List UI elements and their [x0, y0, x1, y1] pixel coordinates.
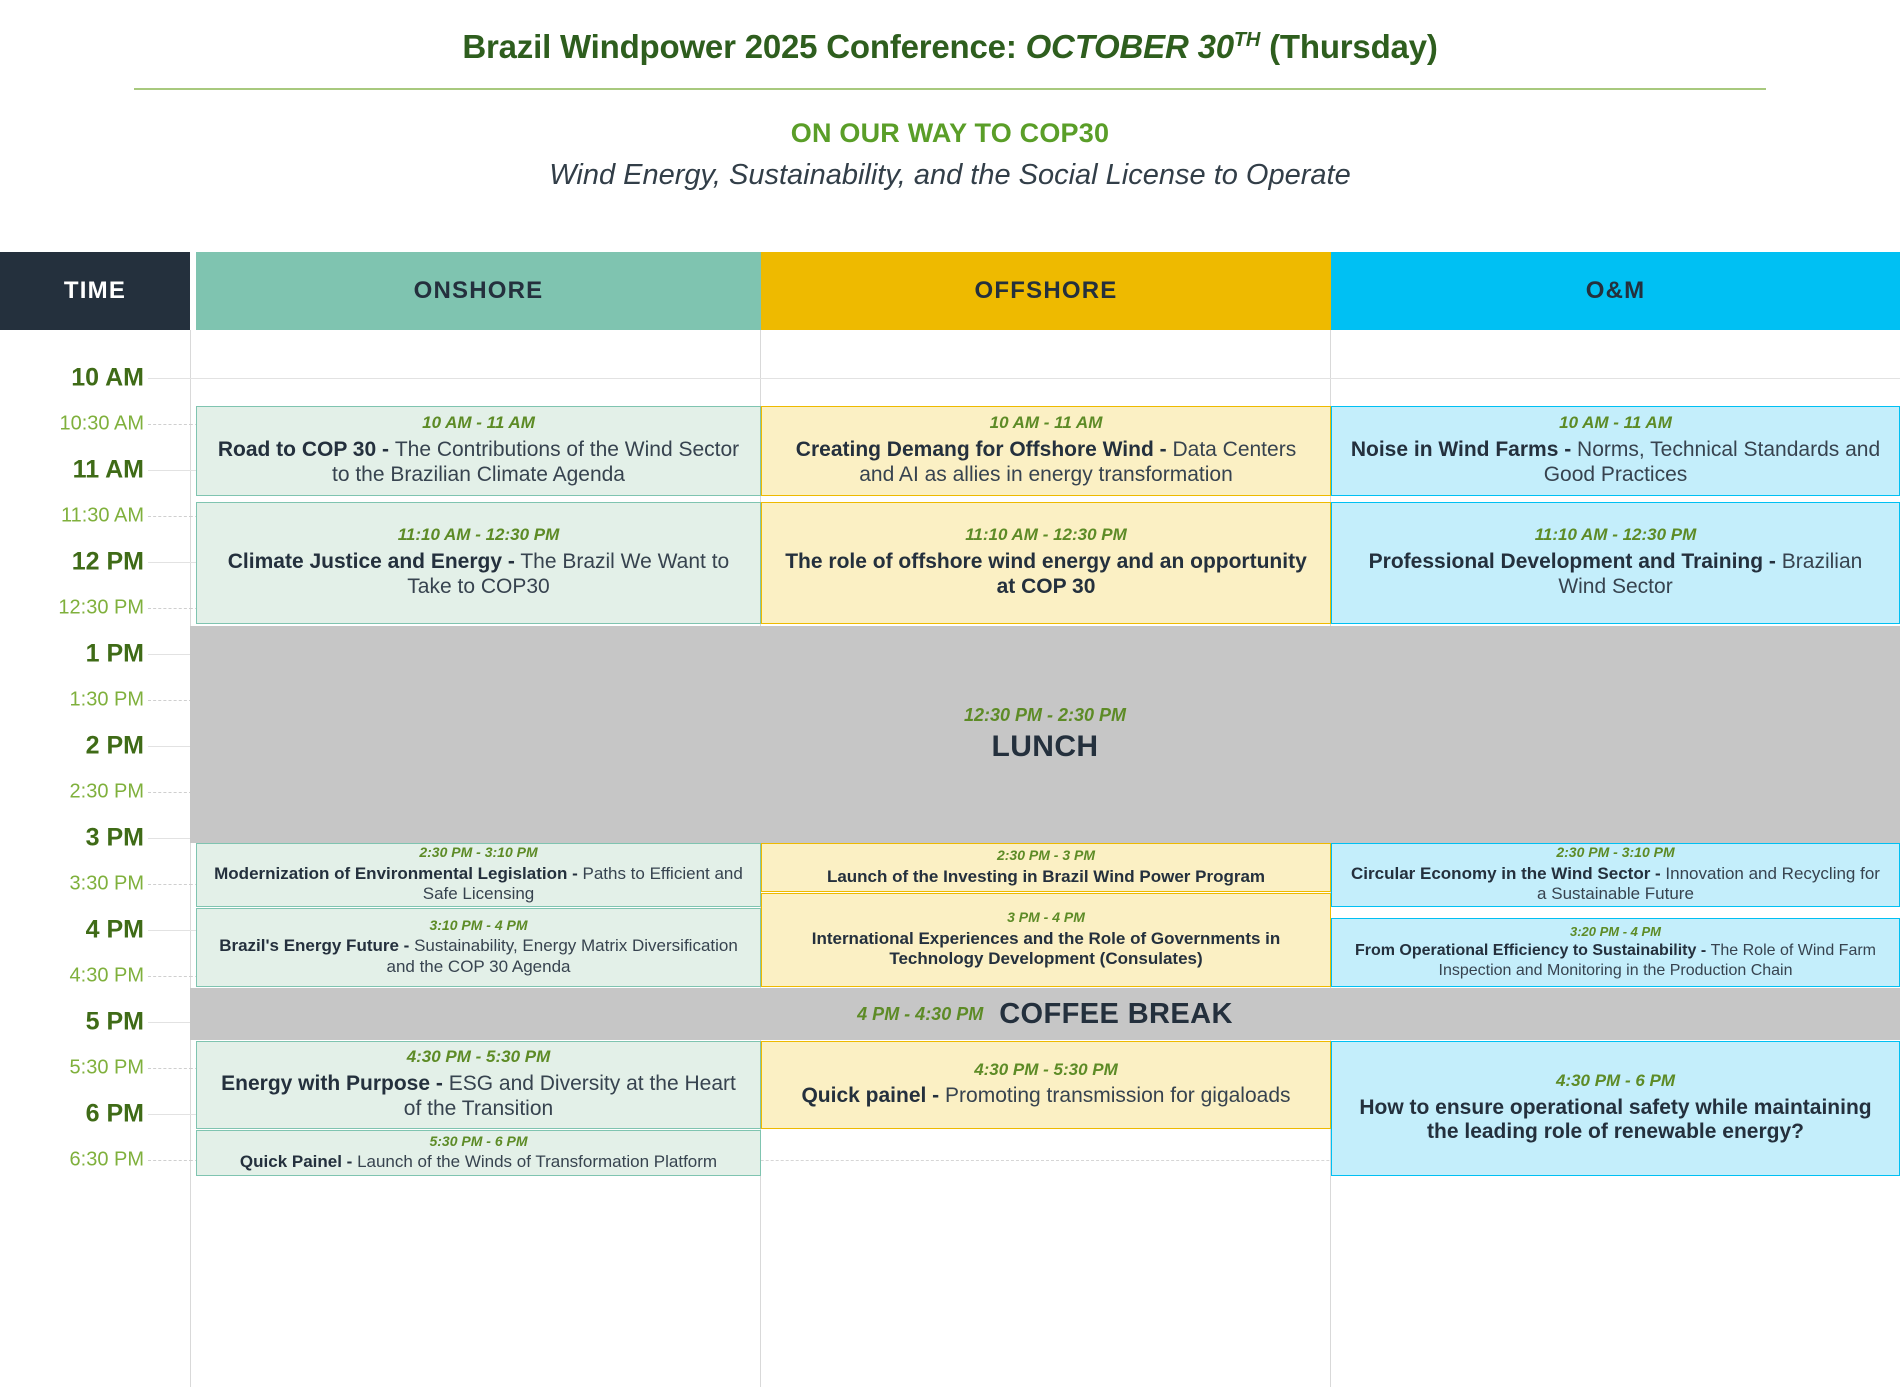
session-time: 3 PM - 4 PM — [1007, 910, 1085, 925]
time-label: 5 PM — [0, 1008, 144, 1037]
session-time: 3:20 PM - 4 PM — [1570, 925, 1661, 939]
session-title: Quick Painel - Launch of the Winds of Tr… — [240, 1152, 717, 1172]
time-gridline-hour — [190, 378, 1900, 379]
session-time: 4:30 PM - 5:30 PM — [407, 1048, 551, 1067]
time-tick — [148, 654, 192, 655]
time-label: 4 PM — [0, 916, 144, 945]
session-title: Noise in Wind Farms - Norms, Technical S… — [1346, 438, 1885, 488]
session-title: Professional Development and Training - … — [1346, 550, 1885, 600]
session-card-onshore-6[interactable]: 5:30 PM - 6 PM Quick Painel - Launch of … — [196, 1130, 761, 1176]
session-time: 10 AM - 11 AM — [990, 414, 1103, 433]
time-tick — [148, 1160, 192, 1161]
time-label: 5:30 PM — [0, 1057, 144, 1080]
time-label: 6:30 PM — [0, 1149, 144, 1172]
column-header-onshore[interactable]: ONSHORE — [196, 252, 761, 330]
session-title: Climate Justice and Energy - The Brazil … — [211, 550, 746, 600]
page-header: Brazil Windpower 2025 Conference: OCTOBE… — [0, 0, 1900, 192]
title-divider — [134, 88, 1766, 90]
time-tick — [148, 930, 192, 931]
session-time: 10 AM - 11 AM — [1559, 414, 1672, 433]
session-title: Brazil's Energy Future - Sustainability,… — [211, 936, 746, 977]
session-title: Creating Demang for Offshore Wind - Data… — [776, 438, 1316, 488]
time-tick — [148, 1114, 192, 1115]
session-time: 3:10 PM - 4 PM — [429, 918, 527, 933]
time-label: 12:30 PM — [0, 597, 144, 620]
time-label: 1:30 PM — [0, 689, 144, 712]
title-date: OCTOBER 30 — [1026, 28, 1234, 65]
break-time: 4 PM - 4:30 PM — [857, 1004, 983, 1025]
time-label: 4:30 PM — [0, 965, 144, 988]
break-label: LUNCH — [992, 730, 1099, 764]
time-label: 1 PM — [0, 640, 144, 669]
time-tick — [148, 470, 192, 471]
column-header-offshore[interactable]: OFFSHORE — [761, 252, 1331, 330]
time-tick — [148, 746, 192, 747]
column-header-row: TIME ONSHORE OFFSHORE O&M — [0, 252, 1900, 330]
time-tick — [148, 1022, 192, 1023]
session-time: 10 AM - 11 AM — [422, 414, 535, 433]
session-title: Energy with Purpose - ESG and Diversity … — [211, 1072, 746, 1122]
session-card-offshore-2[interactable]: 11:10 AM - 12:30 PM The role of offshore… — [761, 502, 1331, 624]
break-label: COFFEE BREAK — [999, 998, 1233, 1031]
column-header-om[interactable]: O&M — [1331, 252, 1900, 330]
time-tick — [148, 562, 192, 563]
session-card-onshore-1[interactable]: 10 AM - 11 AM Road to COP 30 - The Contr… — [196, 406, 761, 496]
time-label: 10:30 AM — [0, 413, 144, 436]
session-time: 4:30 PM - 6 PM — [1556, 1072, 1675, 1091]
session-card-om-3[interactable]: 2:30 PM - 3:10 PM Circular Economy in th… — [1331, 843, 1900, 907]
session-card-offshore-1[interactable]: 10 AM - 11 AM Creating Demang for Offsho… — [761, 406, 1331, 496]
time-label: 11 AM — [0, 456, 144, 485]
session-card-om-5[interactable]: 4:30 PM - 6 PM How to ensure operational… — [1331, 1041, 1900, 1176]
session-card-offshore-3[interactable]: 2:30 PM - 3 PM Launch of the Investing i… — [761, 843, 1331, 892]
time-label: 6 PM — [0, 1100, 144, 1129]
break-time: 12:30 PM - 2:30 PM — [964, 705, 1126, 726]
schedule-grid: TIME ONSHORE OFFSHORE O&M 10 AM10:30 AM1… — [0, 252, 1900, 1387]
session-title: Modernization of Environmental Legislati… — [211, 864, 746, 905]
session-title: Circular Economy in the Wind Sector - In… — [1346, 864, 1885, 905]
session-title: Quick painel - Promoting transmission fo… — [801, 1084, 1290, 1109]
session-card-om-4[interactable]: 3:20 PM - 4 PM From Operational Efficien… — [1331, 918, 1900, 987]
session-card-onshore-2[interactable]: 11:10 AM - 12:30 PM Climate Justice and … — [196, 502, 761, 624]
column-header-time: TIME — [0, 252, 190, 330]
session-title: International Experiences and the Role o… — [776, 929, 1316, 970]
session-card-onshore-3[interactable]: 2:30 PM - 3:10 PM Modernization of Envir… — [196, 843, 761, 907]
session-time: 2:30 PM - 3:10 PM — [1556, 845, 1674, 860]
title-prefix: Brazil Windpower 2025 Conference: — [462, 28, 1025, 65]
session-card-offshore-5[interactable]: 4:30 PM - 5:30 PM Quick painel - Promoti… — [761, 1041, 1331, 1129]
time-tick — [148, 838, 192, 839]
session-title: Launch of the Investing in Brazil Wind P… — [827, 867, 1265, 887]
title-weekday: (Thursday) — [1260, 28, 1437, 65]
session-title: From Operational Efficiency to Sustainab… — [1346, 941, 1885, 979]
time-tick — [148, 608, 192, 609]
page-title: Brazil Windpower 2025 Conference: OCTOBE… — [0, 28, 1900, 66]
time-label: 12 PM — [0, 548, 144, 577]
session-time: 2:30 PM - 3 PM — [997, 848, 1095, 863]
time-label: 2:30 PM — [0, 781, 144, 804]
time-tick — [148, 378, 192, 379]
time-tick — [148, 1068, 192, 1069]
time-tick — [148, 516, 192, 517]
event-tagline: Wind Energy, Sustainability, and the Soc… — [0, 159, 1900, 192]
time-tick — [148, 976, 192, 977]
session-time: 11:10 AM - 12:30 PM — [1535, 526, 1697, 545]
time-tick — [148, 700, 192, 701]
time-tick — [148, 424, 192, 425]
break-block-lunch: 12:30 PM - 2:30 PM LUNCH — [190, 626, 1900, 843]
session-card-offshore-4[interactable]: 3 PM - 4 PM International Experiences an… — [761, 893, 1331, 987]
time-label: 11:30 AM — [0, 505, 144, 528]
event-subtitle: ON OUR WAY TO COP30 — [0, 118, 1900, 149]
schedule-body: 10 AM10:30 AM11 AM11:30 AM12 PM12:30 PM1… — [0, 330, 1900, 1387]
time-label: 3:30 PM — [0, 873, 144, 896]
session-card-om-1[interactable]: 10 AM - 11 AM Noise in Wind Farms - Norm… — [1331, 406, 1900, 496]
break-block-coffee: 4 PM - 4:30 PM COFFEE BREAK — [190, 988, 1900, 1040]
session-title: The role of offshore wind energy and an … — [776, 550, 1316, 600]
session-time: 11:10 AM - 12:30 PM — [965, 526, 1127, 545]
time-tick — [148, 792, 192, 793]
session-card-om-2[interactable]: 11:10 AM - 12:30 PM Professional Develop… — [1331, 502, 1900, 624]
time-tick — [148, 884, 192, 885]
session-card-onshore-5[interactable]: 4:30 PM - 5:30 PM Energy with Purpose - … — [196, 1041, 761, 1129]
time-label: 2 PM — [0, 732, 144, 761]
session-time: 4:30 PM - 5:30 PM — [974, 1061, 1118, 1080]
session-title: How to ensure operational safety while m… — [1346, 1096, 1885, 1146]
column-divider-time — [190, 330, 191, 1387]
time-label: 3 PM — [0, 824, 144, 853]
title-ordinal-suffix: TH — [1234, 29, 1260, 51]
session-time: 2:30 PM - 3:10 PM — [419, 845, 537, 860]
session-card-onshore-4[interactable]: 3:10 PM - 4 PM Brazil's Energy Future - … — [196, 908, 761, 987]
session-time: 5:30 PM - 6 PM — [429, 1134, 527, 1149]
session-title: Road to COP 30 - The Contributions of th… — [211, 438, 746, 488]
time-label: 10 AM — [0, 364, 144, 393]
session-time: 11:10 AM - 12:30 PM — [398, 526, 560, 545]
